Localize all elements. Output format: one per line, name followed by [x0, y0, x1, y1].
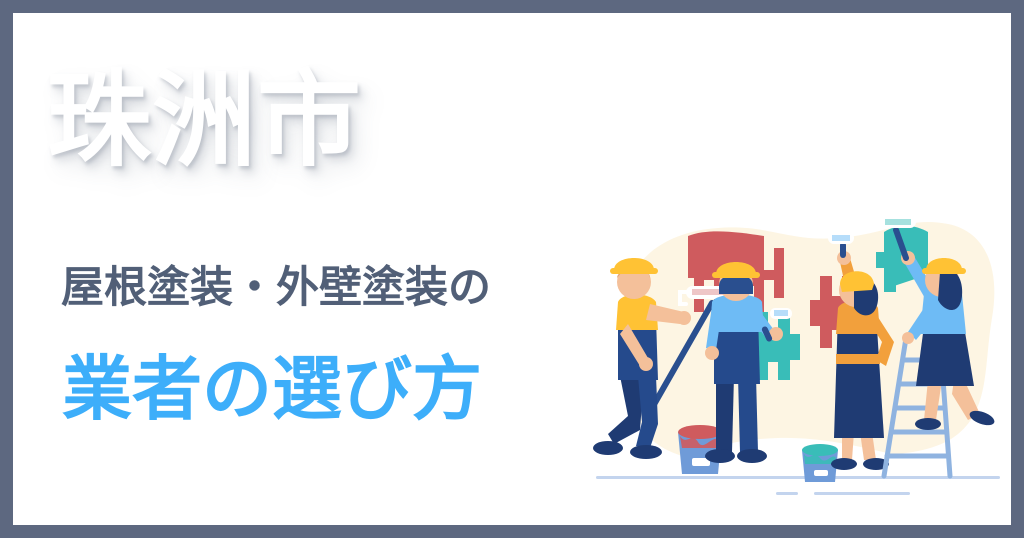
floor-dash-long: [814, 492, 910, 495]
painter1-shoe-front: [630, 445, 662, 459]
painter1-hand-upper: [677, 311, 691, 325]
page-title: 珠洲市: [47, 64, 547, 176]
painter4-hand-lower: [902, 332, 914, 344]
painter1-leg-back: [608, 376, 644, 444]
painter2-leg-right: [738, 376, 758, 452]
paint-patch-teal-right-tail: [884, 268, 896, 292]
house-painters-illustration: [588, 208, 1008, 518]
painter2-leg-left: [716, 376, 734, 452]
headline-text-block: 珠洲市 屋根塗装・外壁塗装の 業者の選び方: [13, 13, 613, 525]
painter3-belt: [836, 354, 880, 364]
painter3-shoe-left: [831, 458, 857, 470]
painter4-shoe-front: [915, 418, 941, 430]
main-headline: 業者の選び方: [62, 353, 602, 427]
painter2-shoe-right: [737, 449, 767, 463]
painter2-shoe-left: [705, 449, 735, 463]
painter1-hand-lower: [639, 357, 653, 371]
floor-line: [596, 476, 1000, 479]
subtitle-line: 屋根塗装・外壁塗装の: [61, 266, 591, 311]
paint-patch-red-large-top: [688, 231, 764, 264]
poster-canvas: 珠洲市 屋根塗装・外壁塗装の 業者の選び方: [13, 13, 1011, 525]
painter4-roller-head: [880, 216, 916, 228]
painter2-hand-left: [705, 346, 719, 360]
painter4-skirt: [916, 326, 974, 386]
painter1-hat-brim: [610, 268, 658, 274]
floor-dash-small: [776, 492, 798, 495]
poster-frame: 珠洲市 屋根塗装・外壁塗装の 業者の選び方: [0, 0, 1024, 538]
painter4-hat-brim: [922, 268, 966, 274]
painter1-shoe-back: [593, 441, 623, 455]
painter2-hat-brim: [712, 272, 760, 278]
